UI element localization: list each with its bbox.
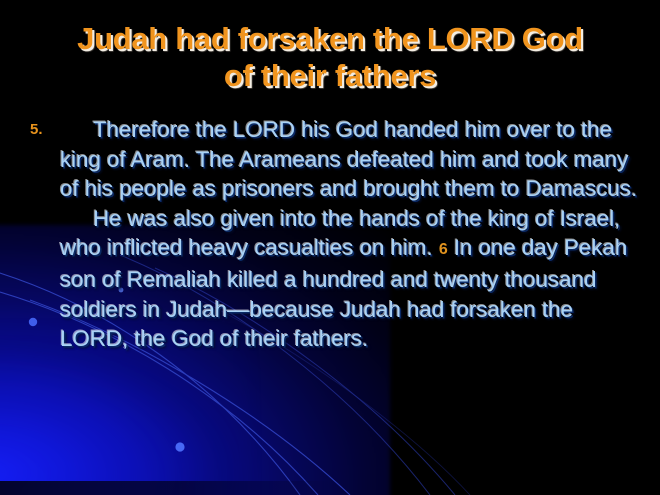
glow-dot-medium bbox=[175, 442, 184, 451]
paragraph-1: Therefore the LORD his God handed him ov… bbox=[60, 115, 640, 204]
verse-number: 6 bbox=[439, 241, 448, 258]
paragraph-1-text: Therefore the LORD his God handed him ov… bbox=[60, 117, 637, 201]
slide-title: Judah had forsaken the LORD God of their… bbox=[22, 20, 638, 94]
title-line-1: Judah had forsaken the LORD God bbox=[22, 20, 638, 57]
slide-body: 5. Therefore the LORD his God handed him… bbox=[30, 115, 640, 354]
body-text: Therefore the LORD his God handed him ov… bbox=[60, 115, 640, 354]
bottom-shadow-band bbox=[0, 481, 330, 495]
bullet-number: 5. bbox=[30, 115, 60, 145]
title-line-2: of their fathers bbox=[22, 57, 638, 94]
bullet-row: 5. Therefore the LORD his God handed him… bbox=[30, 115, 640, 354]
paragraph-2: He was also given into the hands of the … bbox=[60, 204, 640, 354]
presentation-slide: Judah had forsaken the LORD God of their… bbox=[0, 0, 660, 495]
blue-glow-inner-decoration bbox=[0, 330, 250, 495]
